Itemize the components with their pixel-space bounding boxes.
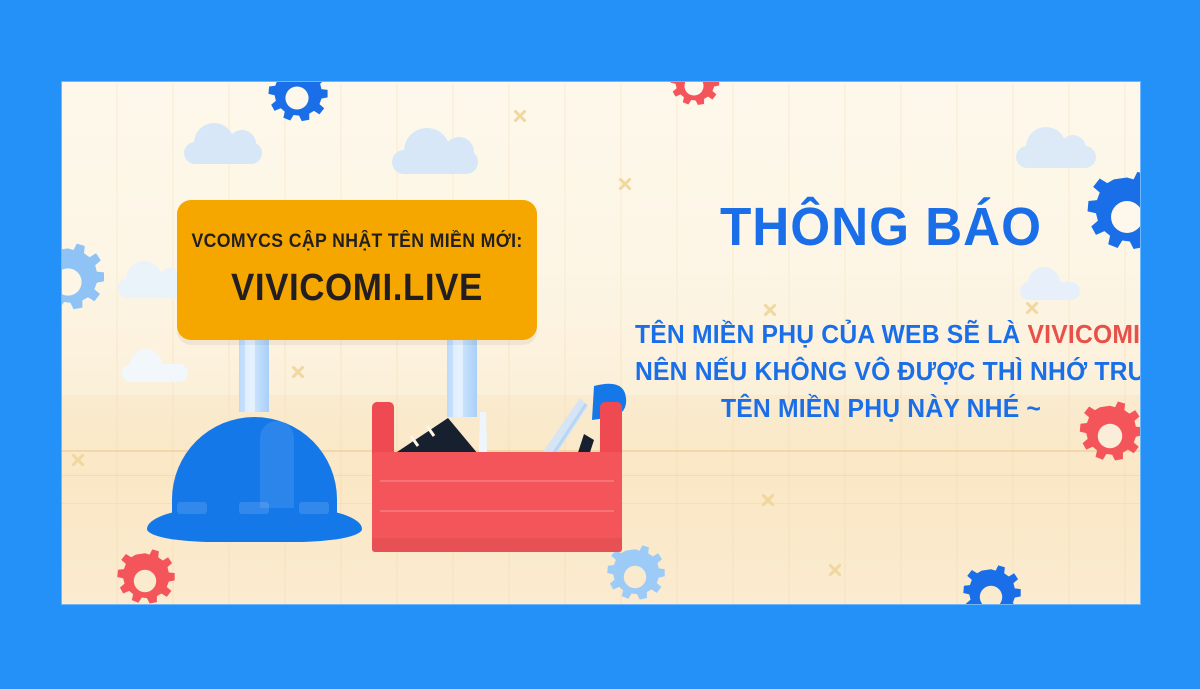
gear-left-lightblue-icon xyxy=(62,242,108,322)
sign-line-2: VIVICOMI.LIVE xyxy=(231,267,483,310)
helmet-notch xyxy=(299,502,329,514)
x-mark-icon xyxy=(70,452,86,468)
toolbox-body xyxy=(372,452,622,552)
gear-top-center-red-icon xyxy=(666,82,722,114)
screenshot-stage: VCOMYCS CẬP NHẬT TÊN MIỀN MỚI: VIVICOMI.… xyxy=(0,0,1200,689)
toolbox-illustration xyxy=(372,392,622,552)
cloud-icon xyxy=(392,150,478,174)
announcement-line-1: TÊN MIỀN PHỤ CỦA WEB SẼ LÀ VIVICOMI.CO xyxy=(635,316,1127,353)
announcement-line-3: TÊN MIỀN PHỤ NÀY NHÉ ~ xyxy=(635,390,1127,427)
helmet-notch xyxy=(239,502,269,514)
line1-before: TÊN MIỀN PHỤ CỦA WEB SẼ LÀ xyxy=(635,319,1028,349)
gear-bottom-right-blue-icon xyxy=(958,564,1024,604)
announcement-card: VCOMYCS CẬP NHẬT TÊN MIỀN MỚI: VIVICOMI.… xyxy=(62,82,1140,604)
helmet-notch xyxy=(177,502,207,514)
x-mark-icon xyxy=(760,492,776,508)
x-mark-icon xyxy=(827,562,843,578)
gear-bottom-left-red-icon xyxy=(112,548,178,604)
sign-board[interactable]: VCOMYCS CẬP NHẬT TÊN MIỀN MỚI: VIVICOMI.… xyxy=(177,200,537,340)
announcement-line-2: NÊN NẾU KHÔNG VÔ ĐƯỢC THÌ NHỚ TRUY CẬP xyxy=(635,353,1127,390)
page-title: THÔNG BÁO xyxy=(635,200,1127,254)
cloud-icon xyxy=(184,142,262,164)
gear-bottom-center-lightblue-icon xyxy=(602,544,668,604)
hard-hat-illustration xyxy=(147,417,362,542)
announcement-panel: THÔNG BÁO TÊN MIỀN PHỤ CỦA WEB SẼ LÀ VIV… xyxy=(622,172,1140,427)
x-mark-icon xyxy=(290,364,306,380)
gear-top-left-icon xyxy=(263,82,331,132)
line1-accent: VIVICOMI.CO xyxy=(1028,319,1140,349)
x-mark-icon xyxy=(512,108,528,124)
cloud-icon xyxy=(122,364,188,382)
cloud-icon xyxy=(1016,146,1096,168)
sign-line-1: VCOMYCS CẬP NHẬT TÊN MIỀN MỚI: xyxy=(191,231,522,253)
announcement-body: TÊN MIỀN PHỤ CỦA WEB SẼ LÀ VIVICOMI.CO N… xyxy=(622,316,1140,427)
